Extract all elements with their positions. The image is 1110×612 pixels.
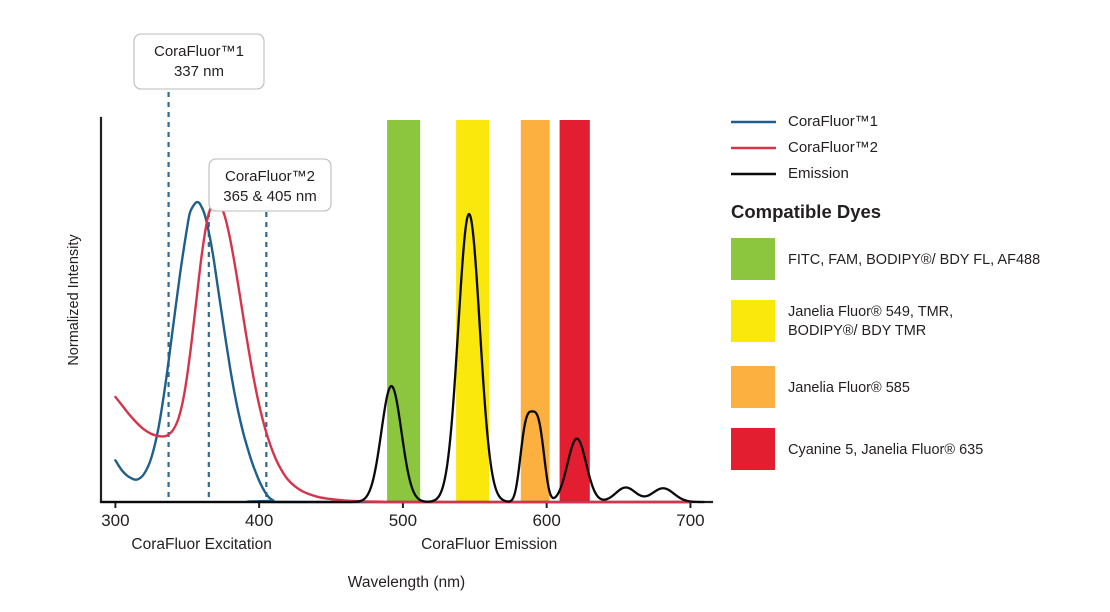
dye-label-2-line-0: Janelia Fluor® 585: [788, 380, 910, 396]
region-label-1: CoraFluor Emission: [421, 536, 557, 553]
dye-entry-1: Janelia Fluor® 549, TMR,BODIPY®/ BDY TMR: [731, 300, 953, 342]
legend-series-label-2: Emission: [788, 165, 849, 182]
legend-series-entry-1: CoraFluor™2: [731, 139, 878, 156]
x-tick-label-300: 300: [101, 511, 129, 530]
corafluor2-callout-line2: 365 & 405 nm: [223, 188, 316, 205]
dye-entry-0: FITC, FAM, BODIPY®/ BDY FL, AF488: [731, 238, 1040, 280]
legend-layer: CoraFluor™1CoraFluor™2EmissionCompatible…: [731, 113, 1040, 470]
dye-label-1-line-1: BODIPY®/ BDY TMR: [788, 323, 926, 339]
compatible-dyes-heading: Compatible Dyes: [731, 201, 881, 222]
x-tick-label-700: 700: [676, 511, 704, 530]
corafluor1-callout-line2: 337 nm: [174, 63, 224, 80]
red-band: [560, 120, 590, 502]
legend-series-label-0: CoraFluor™1: [788, 113, 878, 130]
corafluor2-callout: CoraFluor™2365 & 405 nm: [209, 159, 331, 211]
corafluor1-callout: CoraFluor™1337 nm: [134, 34, 264, 89]
dye-swatch-1: [731, 300, 775, 342]
legend-series-entry-2: Emission: [731, 165, 849, 182]
x-tick-label-400: 400: [245, 511, 273, 530]
dye-swatch-2: [731, 366, 775, 408]
marker-lines: [169, 92, 267, 502]
dye-swatch-3: [731, 428, 775, 470]
corafluor1-callout-line1: CoraFluor™1: [154, 43, 244, 60]
dye-label-3-line-0: Cyanine 5, Janelia Fluor® 635: [788, 442, 983, 458]
corafluor2-callout-line1: CoraFluor™2: [225, 168, 315, 185]
dye-label-0-line-0: FITC, FAM, BODIPY®/ BDY FL, AF488: [788, 252, 1040, 268]
dye-label-1-line-0: Janelia Fluor® 549, TMR,: [788, 304, 953, 320]
y-axis-title: Normalized Intensity: [66, 234, 82, 366]
legend-series-label-1: CoraFluor™2: [788, 139, 878, 156]
x-tick-label-500: 500: [389, 511, 417, 530]
dye-entry-2: Janelia Fluor® 585: [731, 366, 910, 408]
yellow-band: [456, 120, 489, 502]
dye-swatch-0: [731, 238, 775, 280]
x-tick-label-600: 600: [532, 511, 560, 530]
orange-band: [521, 120, 550, 502]
spectra-figure: 300400500600700 CoraFluor ExcitationCora…: [0, 0, 1110, 612]
dye-entry-3: Cyanine 5, Janelia Fluor® 635: [731, 428, 983, 470]
legend-series-entry-0: CoraFluor™1: [731, 113, 878, 130]
callouts-layer: CoraFluor™1337 nmCoraFluor™2365 & 405 nm: [134, 34, 331, 211]
x-axis-title: Wavelength (nm): [348, 574, 465, 591]
region-label-0: CoraFluor Excitation: [131, 536, 271, 553]
